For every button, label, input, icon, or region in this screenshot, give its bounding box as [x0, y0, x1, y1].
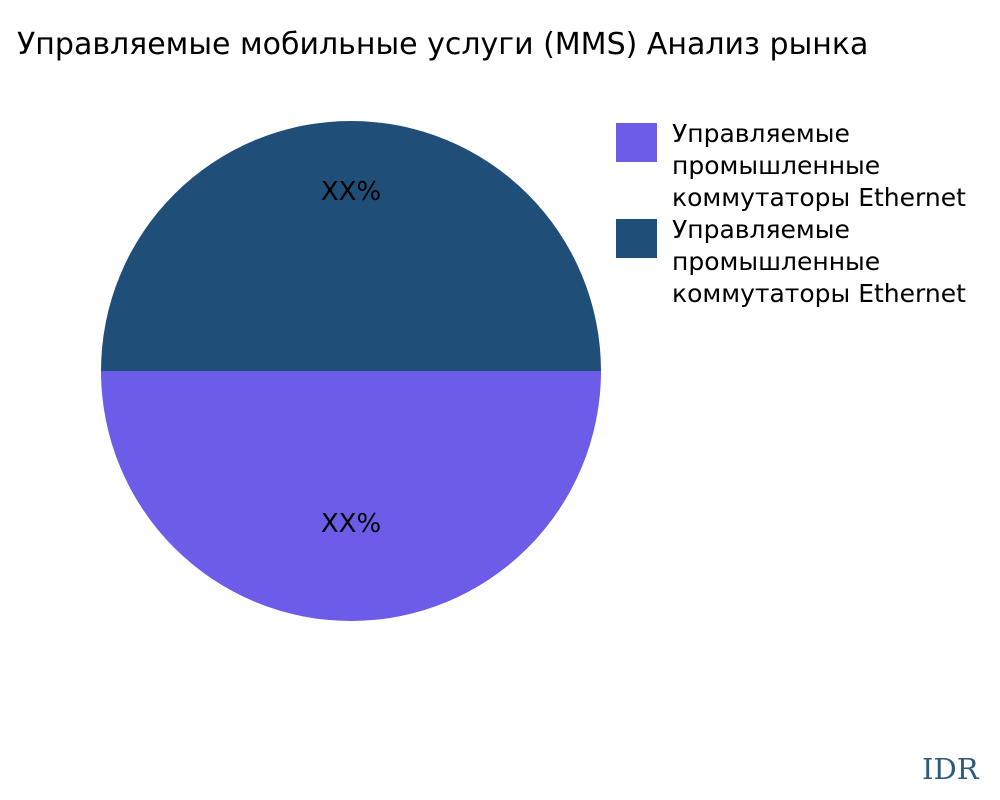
- chart-title: Управляемые мобильные услуги (MMS) Анали…: [17, 26, 868, 64]
- pie-slice-purple[interactable]: [101, 371, 601, 621]
- legend-item-label-0: Управляемые промышленные коммутаторы Eth…: [672, 118, 1000, 214]
- legend-color-swatch-purple: [616, 123, 657, 162]
- legend-color-swatch-blue: [616, 219, 657, 258]
- legend-item-1[interactable]: Управляемые промышленные коммутаторы Eth…: [616, 219, 1000, 315]
- legend-item-label-1: Управляемые промышленные коммутаторы Eth…: [672, 214, 1000, 310]
- pie-graphic: XX% XX%: [101, 121, 601, 621]
- pie-slice-blue[interactable]: [101, 121, 601, 371]
- legend-item-0[interactable]: Управляемые промышленные коммутаторы Eth…: [616, 123, 1000, 219]
- pie-chart-canvas: Управляемые мобильные услуги (MMS) Анали…: [0, 0, 1000, 800]
- legend: Управляемые промышленные коммутаторы Eth…: [616, 123, 1000, 315]
- pie-svg: [101, 121, 601, 621]
- watermark-idr: IDR: [922, 753, 979, 785]
